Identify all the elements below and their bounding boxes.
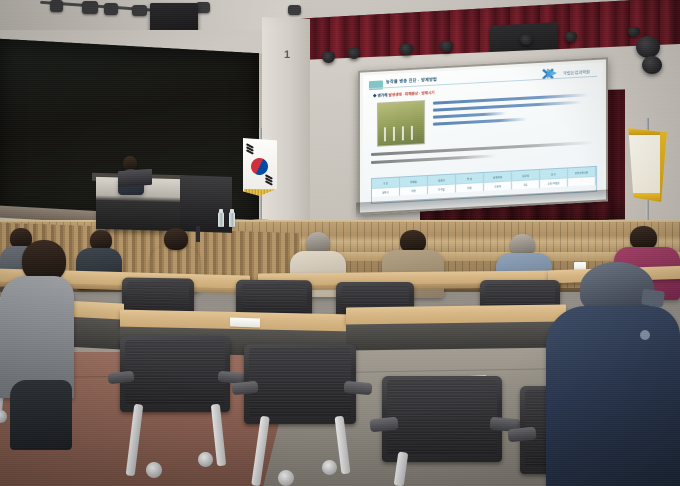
slide-body-line [433,118,527,126]
slide-table-cell: 생육기 [372,187,400,196]
av-equipment-cart [180,175,232,233]
slide-table-cell: - [568,177,596,186]
track-light-icon [132,5,147,16]
wall-lamp-icon [636,36,660,58]
track-light-icon [288,5,301,15]
mesh-chair [120,336,230,412]
table-modesty-panel [346,321,566,350]
mesh-chair [244,344,356,424]
chair-caster [146,462,162,478]
auditorium-seminar-photo: 1 농작물 병충 진단 · 방제방법 국립눈업과학원 ◆ 병가해 발생생태 · … [0,0,680,486]
slide-bullet-main: ◆ 병가해 [373,93,388,98]
track-light-icon [196,2,210,13]
pillar-marker: 1 [283,48,291,62]
slide-table-cell: 반점 [456,183,484,192]
national-flag [243,138,277,196]
slide-bullet-sub: 발생생태 · 피해증상 · 방제시기 [389,91,435,97]
water-bottle [218,212,224,227]
slide-table-cell: 수화제 [484,181,512,190]
attendee-lower-body [10,380,72,450]
slide-body-line [433,112,506,119]
chair-caster [198,452,213,467]
chair-caster [322,460,337,475]
slide-body-lines [433,93,595,130]
cap-brim [641,289,665,308]
track-light-icon [82,1,98,14]
mesh-chair [382,376,502,462]
slide-table-cell: 2회 [512,180,540,189]
presenter-laptop [118,169,152,187]
presentation-slide: 농작물 병충 진단 · 방제방법 국립눈업과학원 ◆ 병가해 발생생태 · 피해… [363,63,603,210]
wall-lamp-icon [642,56,662,74]
track-light-icon [104,3,118,15]
slide-table-cell: 역병 [400,186,428,195]
attendee-foreground [546,262,680,486]
slide-bullet-heading: ◆ 병가해 발생생태 · 피해증상 · 방제시기 [373,91,435,99]
slide-table-cell: 수확 14일전 [540,178,568,187]
track-light-icon [50,0,63,12]
water-bottle [229,212,235,227]
jacket-logo-icon [640,330,650,340]
slide-table-cell: 5~6월 [428,184,456,193]
slide-photo [377,100,425,147]
slide-note-line [371,154,496,163]
chair-armrest [344,381,373,395]
handout-paper [230,317,260,327]
chair-caster [278,470,294,486]
